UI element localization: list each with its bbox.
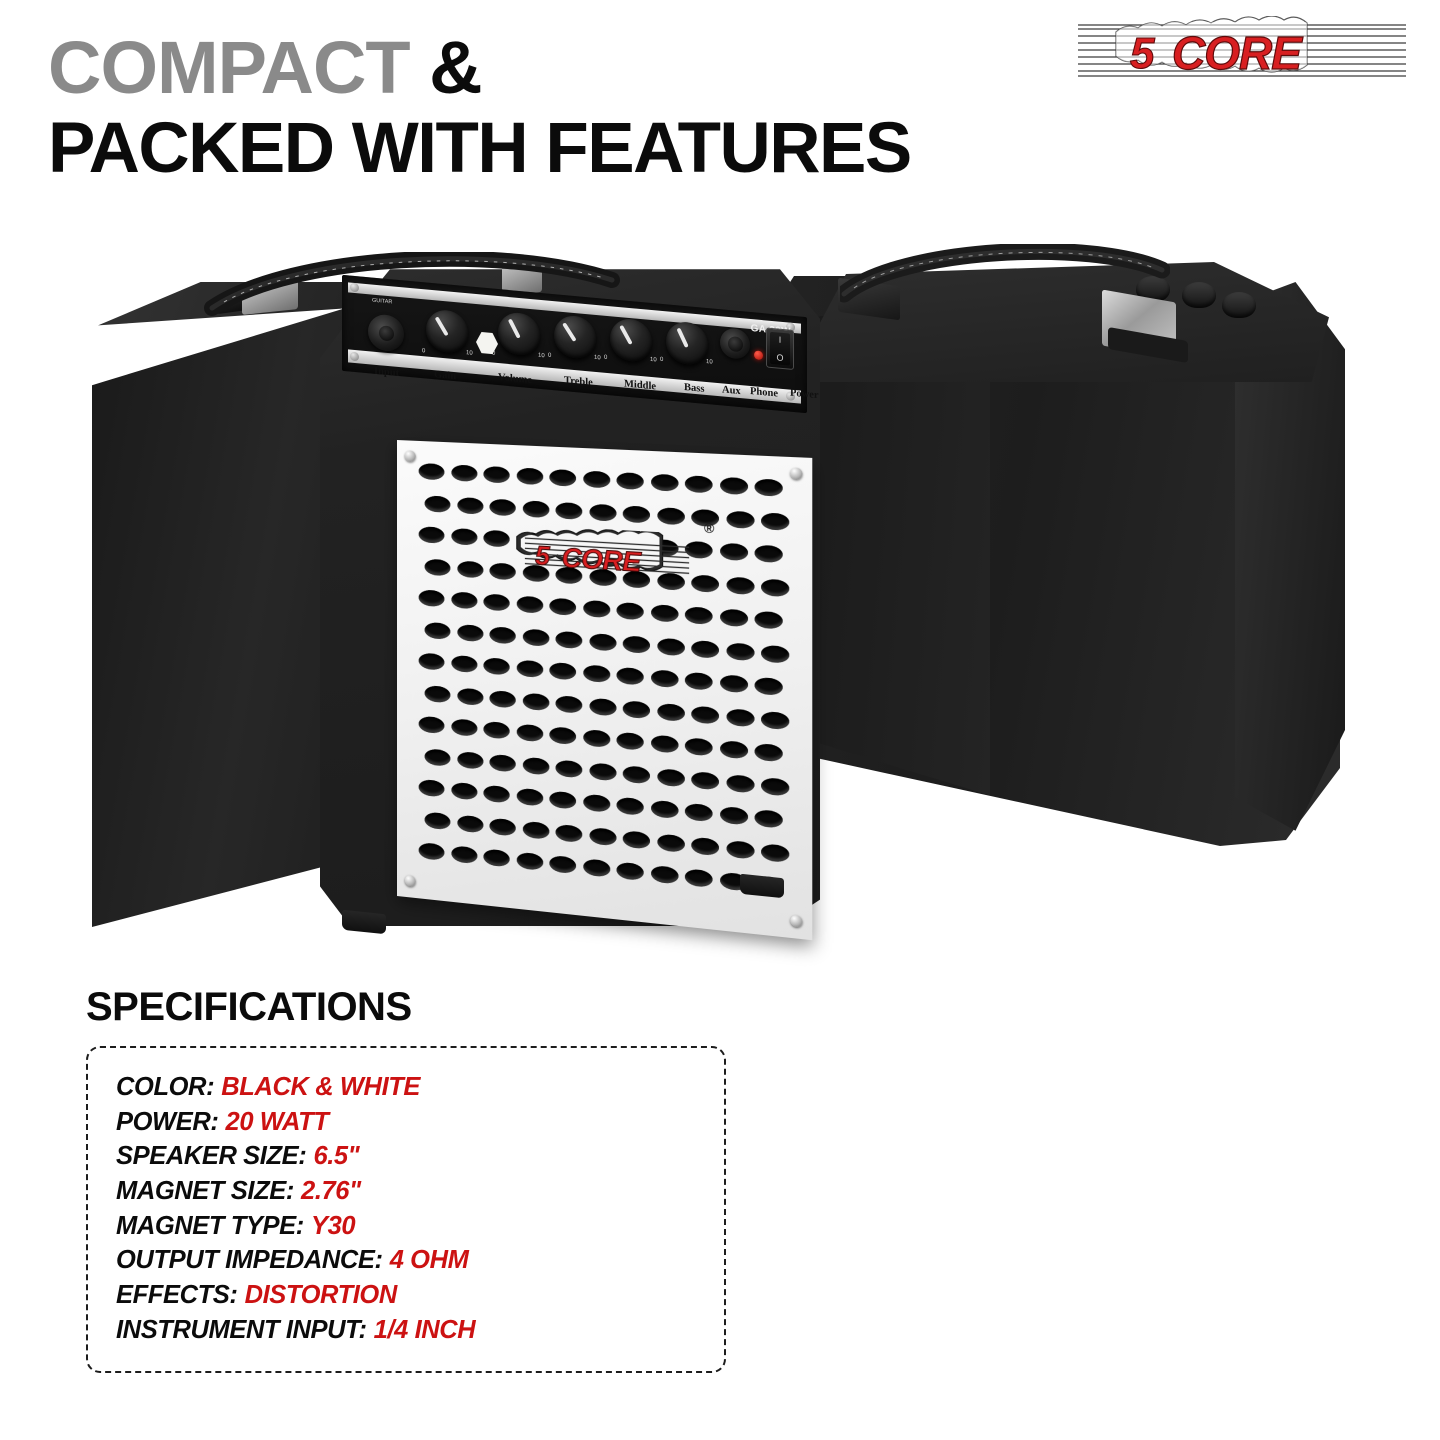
spec-value-speaker-size: 6.5" (313, 1142, 359, 1170)
grille-hole (761, 777, 789, 796)
grille-hole (457, 687, 483, 705)
grille-hole (483, 594, 509, 612)
grille-hole (589, 827, 616, 846)
grille-hole (516, 724, 542, 742)
spec-row-power: POWER: 20 WATT (116, 1105, 698, 1140)
grille-hole (685, 868, 713, 887)
grille-hole (589, 633, 616, 651)
specifications-title: SPECIFICATIONS (86, 985, 726, 1030)
spec-row-output-impedance: OUTPUT IMPEDANCE: 4 OHM (116, 1243, 698, 1278)
grille-hole (720, 674, 748, 693)
grille-screw-bottom-left (405, 875, 416, 887)
svg-text:CORE: CORE (562, 542, 643, 578)
power-led-indicator (754, 350, 763, 360)
grille-hole (651, 735, 678, 754)
grille-hole (522, 692, 549, 710)
svg-text:5: 5 (535, 542, 550, 572)
grille-hole (489, 753, 515, 772)
spec-label-color: COLOR: (116, 1073, 214, 1101)
knob-volume-scale-max: 10 (538, 353, 545, 360)
grille-hole (483, 530, 509, 548)
grille-hole (457, 751, 483, 769)
grille-hole (419, 779, 445, 797)
grille-hole (457, 560, 483, 578)
grille-hole (425, 621, 451, 639)
spec-value-effects: DISTORTION (245, 1281, 397, 1309)
grille-hole (451, 845, 477, 864)
brand-logo-5core: 5 CORE (1072, 16, 1412, 86)
grille-hole (761, 578, 789, 597)
input-jack[interactable] (368, 313, 404, 352)
knob-bass-scale-min: 0 (660, 357, 663, 363)
grille-hole (726, 642, 754, 661)
grille-hole (623, 830, 650, 849)
panel-label-treble: Treble (564, 375, 593, 389)
grille-hole (617, 472, 644, 490)
grille-hole (720, 477, 748, 495)
knob-gain-scale-max: 10 (466, 350, 473, 357)
knob-volume[interactable] (498, 311, 540, 357)
spec-value-output-impedance: 4 OHM (390, 1246, 469, 1274)
grille-hole (617, 667, 644, 686)
grille-hole (583, 600, 610, 618)
grille-hole (623, 765, 650, 784)
grille-hole (657, 507, 684, 525)
grille-hole (451, 528, 477, 546)
grille-hole (583, 794, 610, 813)
spec-row-effects: EFFECTS: DISTORTION (116, 1278, 698, 1313)
spec-label-magnet-size: MAGNET SIZE: (116, 1177, 294, 1205)
rear-knob-2 (1222, 292, 1256, 318)
grille-hole (489, 690, 515, 708)
grille-hole (583, 729, 610, 748)
grille-hole (691, 771, 719, 790)
grille-hole (489, 498, 515, 516)
grille-hole (623, 635, 650, 653)
panel-label-aux: Aux (722, 384, 741, 397)
knob-gain[interactable] (426, 308, 468, 354)
grille-hole (425, 495, 451, 512)
grille-hole (651, 474, 678, 492)
grille-hole (489, 626, 515, 644)
spec-row-magnet-size: MAGNET SIZE: 2.76" (116, 1174, 698, 1209)
grille-hole (425, 811, 451, 830)
headline-line-1: COMPACT & (48, 34, 1048, 102)
grille-hole (419, 526, 445, 544)
grille-hole (623, 700, 650, 719)
grille-hole (556, 695, 583, 713)
grille-hole (657, 637, 684, 656)
grille-hole (419, 653, 445, 671)
grille-hole (691, 836, 719, 855)
spec-label-magnet-type: MAGNET TYPE: (116, 1212, 304, 1240)
grille-hole (522, 756, 549, 775)
knob-treble[interactable] (554, 314, 596, 360)
rear-knob-1 (1182, 282, 1216, 308)
panel-label-input: Input (374, 366, 399, 379)
grille-hole (549, 469, 576, 487)
grille-hole (425, 558, 451, 576)
grille-hole (726, 840, 754, 859)
grille-hole (522, 500, 549, 518)
grille-hole (685, 475, 713, 493)
knob-gain-scale-min: 0 (422, 348, 425, 354)
grille-hole (419, 589, 445, 607)
headline-word-compact: COMPACT (48, 26, 410, 109)
grille-hole (483, 466, 509, 483)
headline-line-2: PACKED WITH FEATURES (48, 116, 1048, 181)
grille-hole (457, 497, 483, 515)
grille-hole (451, 591, 477, 609)
grille-screw-top-left (405, 450, 416, 462)
grille-hole (720, 543, 748, 561)
grille-hole (755, 743, 783, 762)
grille-hole (726, 576, 754, 594)
grille-hole (761, 512, 789, 530)
grille-hole (425, 748, 451, 766)
grille-hole (685, 803, 713, 822)
grille-hole (726, 510, 754, 528)
grille-hole (425, 685, 451, 703)
spec-value-magnet-size: 2.76" (301, 1177, 361, 1205)
grille-hole (761, 710, 789, 729)
grille-hole (685, 606, 713, 624)
grille-hole (483, 785, 509, 804)
grille-hole (720, 806, 748, 825)
spec-row-speaker-size: SPEAKER SIZE: 6.5" (116, 1139, 698, 1174)
grille-hole (516, 788, 542, 807)
grille-hole (451, 718, 477, 736)
grille-hole (483, 657, 509, 675)
grille-hole (549, 855, 576, 874)
spec-label-speaker-size: SPEAKER SIZE: (116, 1142, 306, 1170)
grille-hole (556, 502, 583, 520)
knob-middle-scale-min: 0 (604, 355, 607, 361)
grille-hole (617, 732, 644, 751)
panel-label-gain: Gain (434, 369, 456, 382)
panel-screw-bottom-left (350, 352, 359, 362)
spec-row-instrument-input: INSTRUMENT INPUT: 1/4 INCH (116, 1313, 698, 1348)
grille-hole (657, 702, 684, 721)
rear-carry-handle[interactable] (840, 244, 1170, 306)
grille-hole (516, 852, 542, 871)
grille-hole (726, 774, 754, 793)
grille-hole (549, 791, 576, 810)
grille-hole (685, 737, 713, 756)
knob-treble-scale-max: 10 (594, 355, 601, 362)
specifications-box: COLOR: BLACK & WHITE POWER: 20 WATT SPEA… (86, 1046, 726, 1373)
grille-hole (516, 660, 542, 678)
grille-hole (583, 664, 610, 682)
grille-hole (549, 662, 576, 680)
grille-hole (651, 800, 678, 819)
grille-hole (522, 820, 549, 839)
grille-hole (755, 611, 783, 630)
grille-hole (451, 655, 477, 673)
grille-hole (720, 740, 748, 759)
grille-hole (651, 604, 678, 622)
amplifier-front-unit: GUITAR GA 20W 0 10 0 10 0 10 0 10 0 10 (92, 252, 822, 962)
spec-value-color: BLACK & WHITE (221, 1073, 420, 1101)
cabinet-foot-left (342, 910, 386, 935)
grille-hole (457, 814, 483, 833)
speaker-grille-plate: ® 5 CORE (397, 440, 812, 940)
svg-text:5: 5 (1130, 29, 1155, 78)
grille-hole (549, 598, 576, 616)
grille-hole (451, 782, 477, 801)
grille-hole (617, 797, 644, 816)
grille-hole (755, 545, 783, 563)
spec-value-instrument-input: 1/4 INCH (374, 1316, 476, 1344)
grille-hole (556, 759, 583, 778)
grille-hole (726, 708, 754, 727)
knob-bass[interactable] (666, 320, 708, 366)
grille-hole (685, 672, 713, 691)
grille-hole (589, 762, 616, 781)
grille-hole (483, 721, 509, 739)
grille-hole (589, 697, 616, 716)
panel-label-volume: Volume (498, 372, 532, 386)
grille-hole (556, 823, 583, 842)
amplifier-rear-unit (730, 234, 1350, 884)
grille-hole (583, 858, 610, 877)
grille-hole (556, 630, 583, 648)
phone-jack[interactable] (720, 327, 750, 360)
spec-value-power: 20 WATT (226, 1108, 329, 1136)
grille-hole (489, 817, 515, 836)
grille-hole (522, 628, 549, 646)
grille-hole (451, 464, 477, 481)
grille-hole (419, 716, 445, 734)
grille-hole (419, 842, 445, 861)
grille-hole (755, 677, 783, 696)
spec-row-color: COLOR: BLACK & WHITE (116, 1070, 698, 1105)
grille-hole (483, 849, 509, 868)
grille-hole (419, 463, 445, 480)
grille-hole (516, 468, 542, 486)
grille-hole (516, 596, 542, 614)
spec-label-output-impedance: OUTPUT IMPEDANCE: (116, 1246, 383, 1274)
grille-hole (623, 505, 650, 523)
grille-hole (589, 503, 616, 521)
grille-hole (457, 624, 483, 642)
panel-label-middle: Middle (624, 379, 656, 393)
product-photo-scene: GUITAR GA 20W 0 10 0 10 0 10 0 10 0 10 (0, 212, 1440, 972)
grille-hole (761, 644, 789, 663)
panel-screw-top-left (350, 283, 359, 293)
grille-hole (549, 726, 576, 745)
knob-middle-scale-max: 10 (650, 357, 657, 364)
specifications-section: SPECIFICATIONS COLOR: BLACK & WHITE POWE… (86, 985, 726, 1373)
grille-hole (761, 843, 789, 863)
headline-ampersand: & (429, 26, 481, 109)
grille-hole (617, 602, 644, 620)
knob-treble-scale-min: 0 (548, 353, 551, 359)
grille-hole (617, 862, 644, 881)
spec-label-instrument-input: INSTRUMENT INPUT: (116, 1316, 367, 1344)
grille-hole (691, 705, 719, 724)
grille-hole (755, 479, 783, 497)
grille-hole (755, 809, 783, 828)
grille-hole (720, 609, 748, 628)
grille-hole (651, 669, 678, 688)
grille-screw-top-right (790, 468, 802, 480)
grille-hole (651, 865, 678, 884)
panel-label-bass: Bass (684, 382, 704, 395)
power-switch[interactable]: I O (766, 327, 794, 370)
spec-label-power: POWER: (116, 1108, 218, 1136)
grille-hole (657, 833, 684, 852)
svg-text:CORE: CORE (1172, 27, 1303, 79)
grille-screw-bottom-right (790, 915, 802, 928)
grille-hole (657, 768, 684, 787)
spec-value-magnet-type: Y30 (311, 1212, 355, 1240)
spec-row-magnet-type: MAGNET TYPE: Y30 (116, 1209, 698, 1244)
headline-block: COMPACT & PACKED WITH FEATURES (48, 34, 1048, 181)
knob-bass-scale-max: 10 (706, 359, 713, 366)
grille-hole (691, 640, 719, 659)
grille-hole (583, 471, 610, 489)
spec-label-effects: EFFECTS: (116, 1281, 237, 1309)
knob-middle[interactable] (610, 317, 652, 363)
panel-micro-text-guitar: GUITAR (372, 298, 392, 306)
